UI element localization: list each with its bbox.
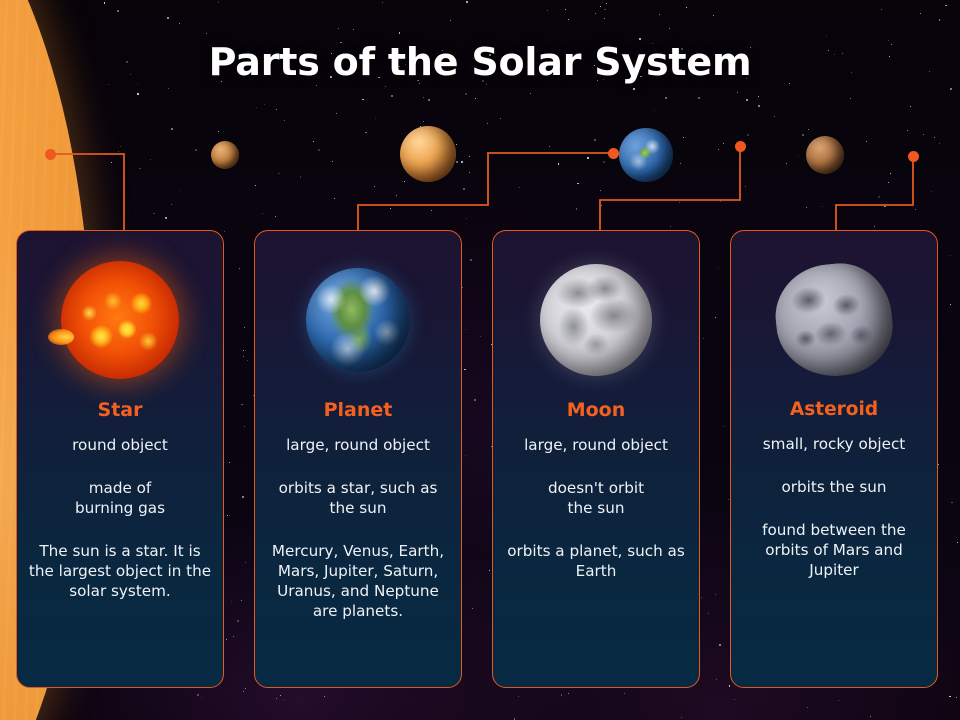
card-planet[interactable]: Planet large, round object orbits a star… [254,230,462,688]
card-asteroid-image-wrap [741,245,927,395]
connector-planet [358,153,613,232]
asteroid-image [770,258,897,382]
fact: Mercury, Venus, Earth, Mars, Jupiter, Sa… [265,541,451,621]
sun-image [61,261,179,379]
connector-asteroid [836,156,913,232]
card-asteroid-facts: small, rocky object orbits the sun found… [741,434,927,580]
fact: orbits the sun [741,477,927,497]
card-planet-image-wrap [265,245,451,395]
card-planet-facts: large, round object orbits a star, such … [265,435,451,621]
connector-dot-moon [735,141,746,152]
connector-star [50,154,124,232]
card-moon-title: Moon [503,399,689,421]
connector-dot-star [45,149,56,160]
connector-dot-planet [608,148,619,159]
card-moon[interactable]: Moon large, round object doesn't orbit t… [492,230,700,688]
fact: doesn't orbit the sun [503,478,689,518]
moon-image [540,264,652,376]
fact: small, rocky object [741,434,927,454]
fact: The sun is a star. It is the largest obj… [27,541,213,601]
fact: orbits a star, such as the sun [265,478,451,518]
card-star-title: Star [27,399,213,421]
card-star-image-wrap [27,245,213,395]
card-star[interactable]: Star round object made of burning gas Th… [16,230,224,688]
fact: large, round object [265,435,451,455]
fact: orbits a planet, such as Earth [503,541,689,581]
card-planet-title: Planet [265,399,451,421]
earth-image [306,268,410,372]
card-moon-image-wrap [503,245,689,395]
card-star-facts: round object made of burning gas The sun… [27,435,213,601]
fact: made of burning gas [27,478,213,518]
infographic-canvas: Parts of the Solar System Star round obj… [0,0,960,720]
connector-moon [600,146,740,232]
card-asteroid-title: Asteroid [741,399,927,420]
fact: found between the orbits of Mars and Jup… [741,520,927,580]
fact: large, round object [503,435,689,455]
fact: round object [27,435,213,455]
connector-dot-asteroid [908,151,919,162]
card-asteroid[interactable]: Asteroid small, rocky object orbits the … [730,230,938,688]
card-moon-facts: large, round object doesn't orbit the su… [503,435,689,581]
